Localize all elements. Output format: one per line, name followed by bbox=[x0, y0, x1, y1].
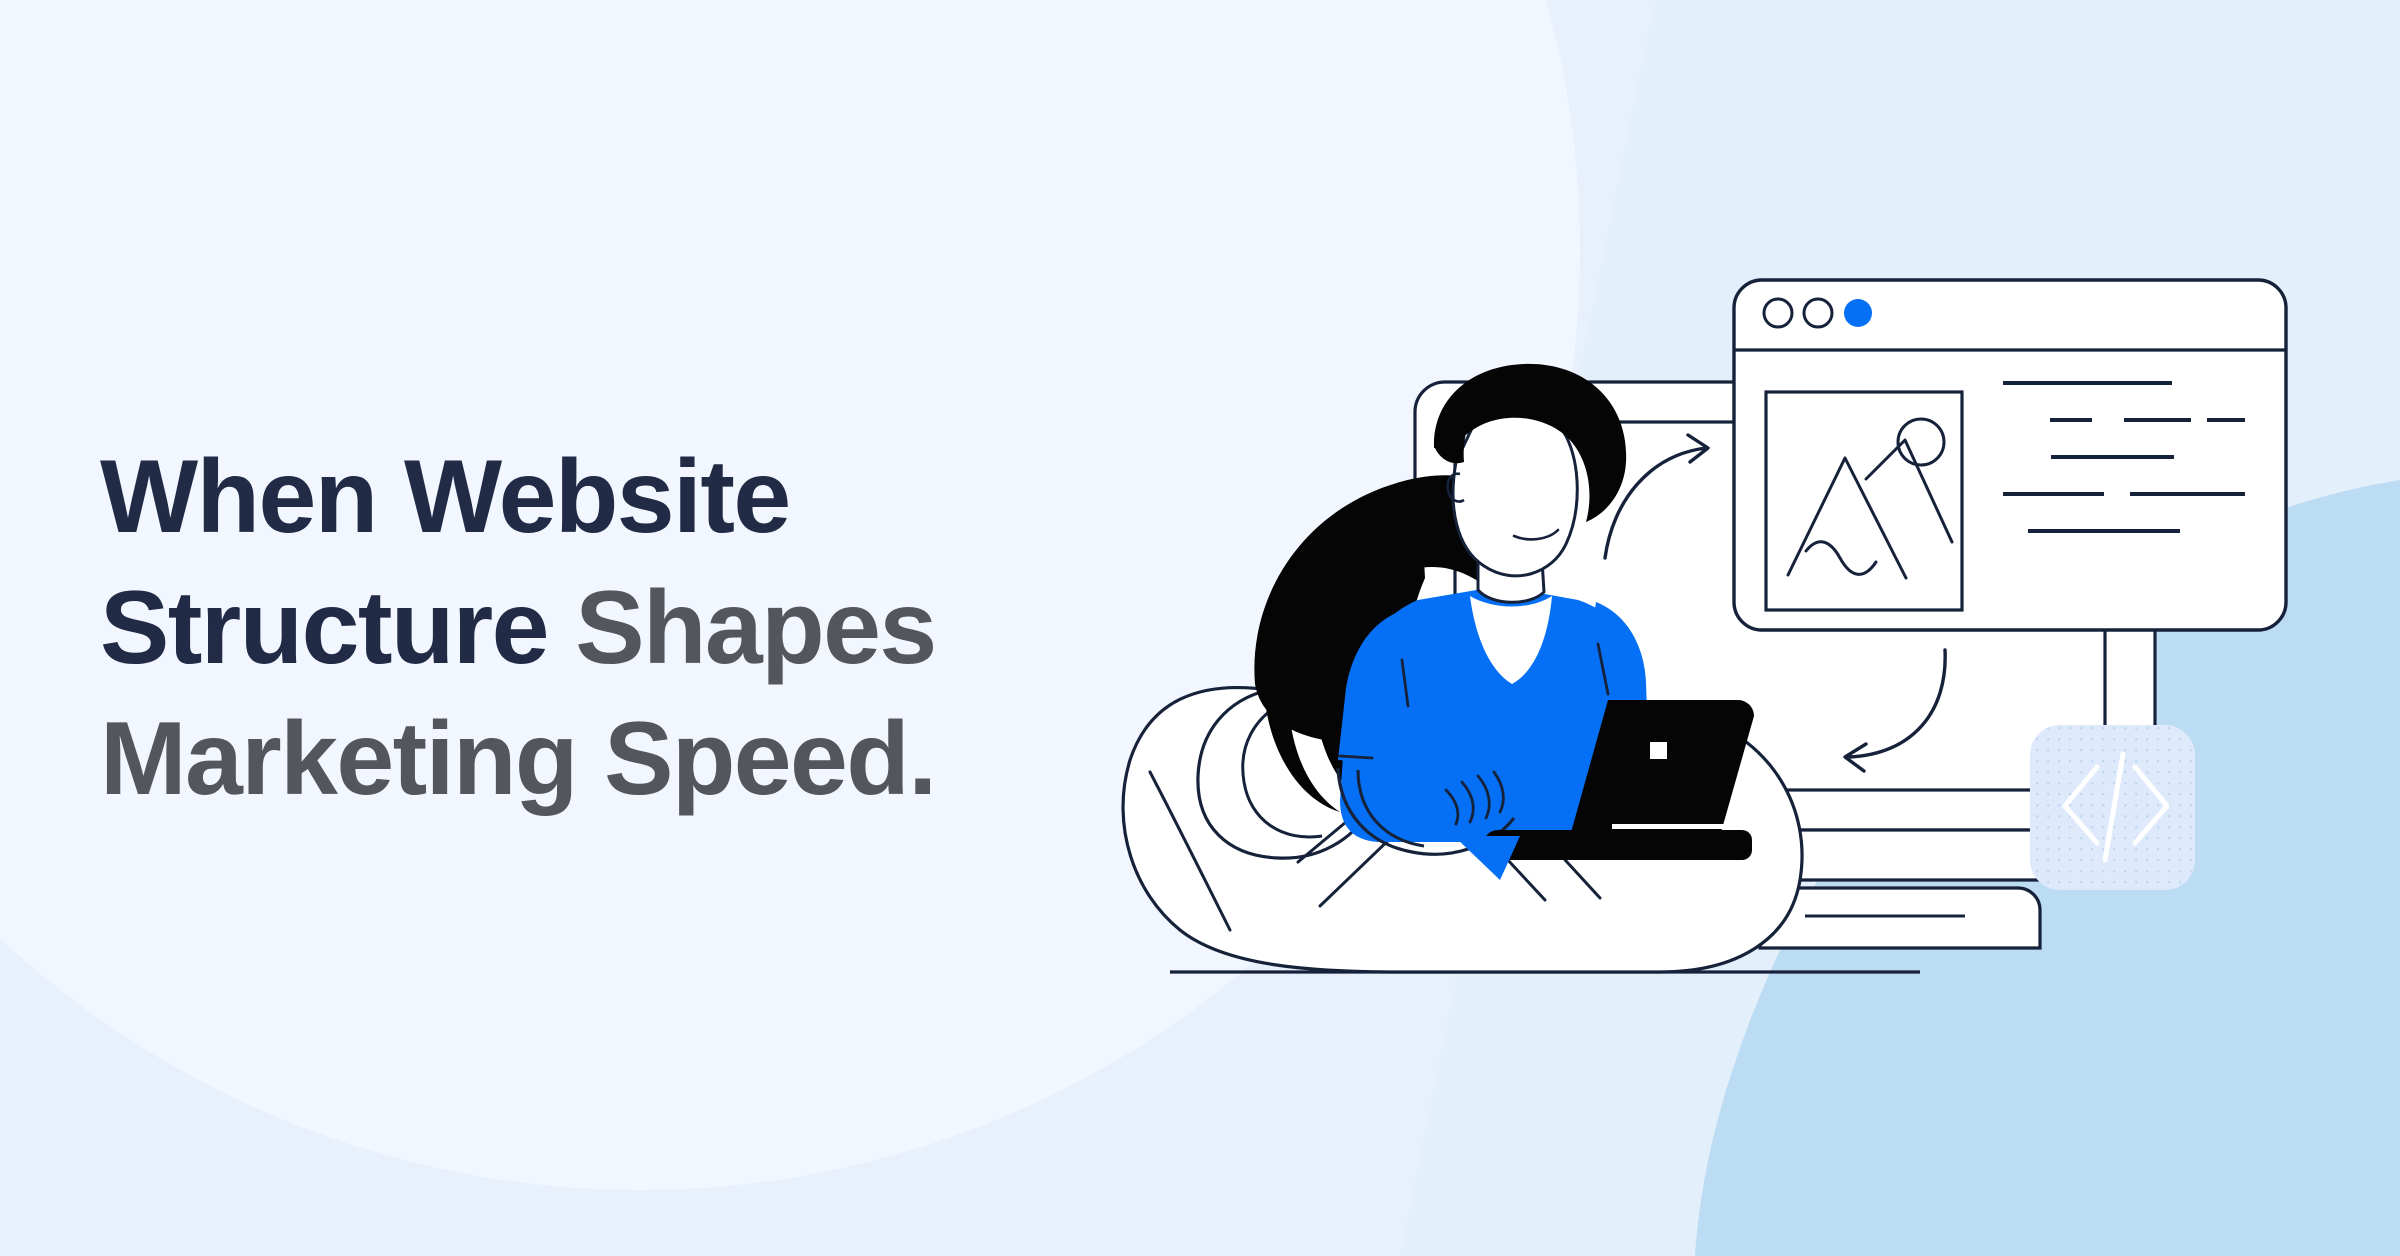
laptop-screen-edge bbox=[1612, 824, 1740, 829]
laptop-logo bbox=[1650, 742, 1667, 759]
monitor-base bbox=[1760, 888, 2040, 948]
hero-banner: When Website Structure Shapes Marketing … bbox=[0, 0, 2400, 1256]
laptop-keyboard-base bbox=[1483, 830, 1752, 860]
window-dot-3-icon[interactable] bbox=[1844, 299, 1872, 327]
code-badge bbox=[2030, 725, 2195, 890]
page-title: When Website Structure Shapes Marketing … bbox=[100, 432, 1180, 825]
window-dot-2-icon[interactable] bbox=[1804, 299, 1832, 327]
browser-mockup-window bbox=[1734, 280, 2286, 630]
face bbox=[1453, 407, 1577, 576]
window-dot-1-icon[interactable] bbox=[1764, 299, 1792, 327]
mountain-image-placeholder bbox=[1766, 392, 1962, 610]
